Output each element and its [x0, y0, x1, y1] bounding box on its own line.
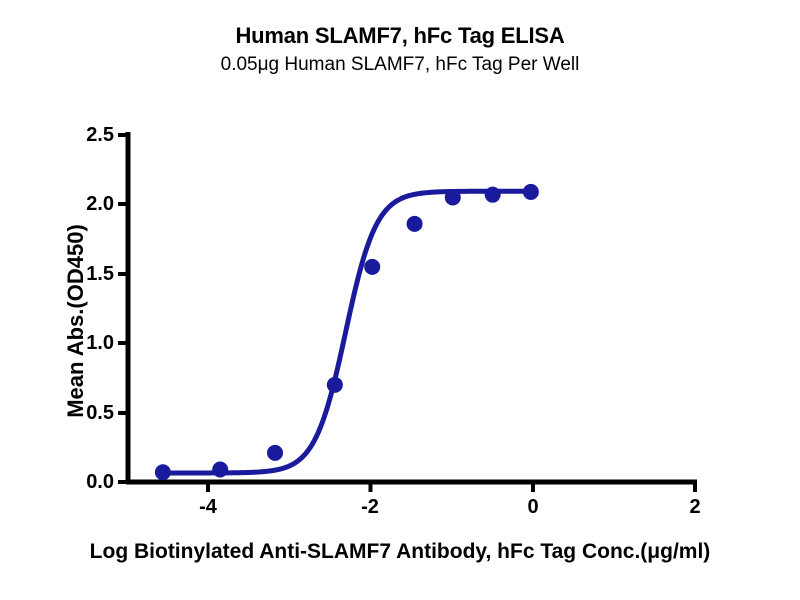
data-point	[155, 464, 171, 480]
elisa-chart-figure: Human SLAMF7, hFc Tag ELISA 0.05μg Human…	[0, 0, 800, 600]
data-point	[364, 259, 380, 275]
plot-canvas	[0, 0, 800, 600]
data-point	[407, 216, 423, 232]
axis-lines	[126, 132, 697, 482]
data-point	[327, 377, 343, 393]
data-point	[485, 187, 501, 203]
data-point	[212, 462, 228, 478]
data-point	[523, 184, 539, 200]
data-point	[445, 189, 461, 205]
sigmoid-fit-curve	[163, 191, 531, 473]
plot-area: Mean Abs.(OD450) Log Biotinylated Anti-S…	[0, 0, 800, 600]
data-point	[267, 445, 283, 461]
series-group	[155, 184, 539, 480]
